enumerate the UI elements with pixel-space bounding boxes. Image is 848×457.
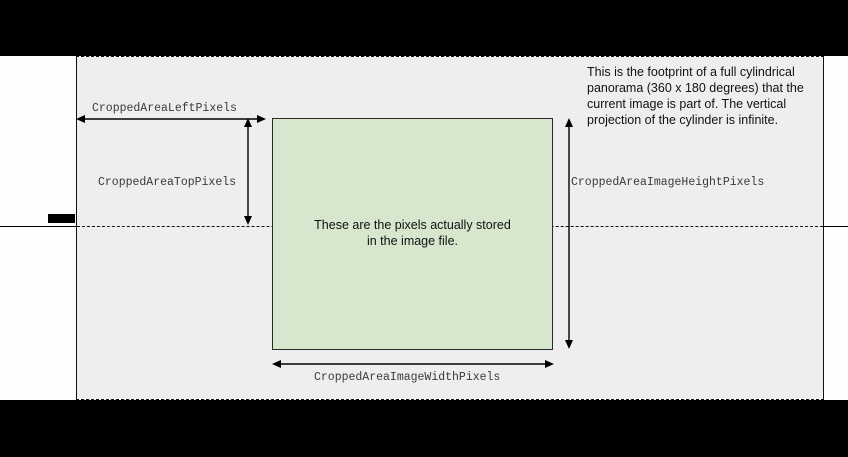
label-cropped-area-image-height-pixels: CroppedAreaImageHeightPixels xyxy=(571,176,764,189)
diagram-canvas: These are the pixels actually stored in … xyxy=(0,0,848,457)
label-cropped-area-top-pixels: CroppedAreaTopPixels xyxy=(98,176,236,189)
letterbox-bar-bottom xyxy=(0,400,848,457)
stored-pixels-caption: These are the pixels actually stored in … xyxy=(272,217,553,249)
horizon-line-right xyxy=(823,226,848,227)
label-cropped-area-image-width-pixels: CroppedAreaImageWidthPixels xyxy=(314,371,500,384)
horizon-marker-icon xyxy=(48,214,75,223)
label-cropped-area-left-pixels: CroppedAreaLeftPixels xyxy=(92,102,237,115)
stored-pixels-caption-line-2: in the image file. xyxy=(272,233,553,249)
stored-pixels-caption-line-1: These are the pixels actually stored xyxy=(272,217,553,233)
double-headed-vertical-arrow-icon xyxy=(562,113,576,353)
horizon-line-left xyxy=(0,226,77,227)
footprint-note: This is the footprint of a full cylindri… xyxy=(587,64,832,128)
double-headed-vertical-arrow-icon xyxy=(241,113,255,229)
letterbox-bar-top xyxy=(0,0,848,56)
double-headed-horizontal-arrow-icon xyxy=(267,357,559,371)
